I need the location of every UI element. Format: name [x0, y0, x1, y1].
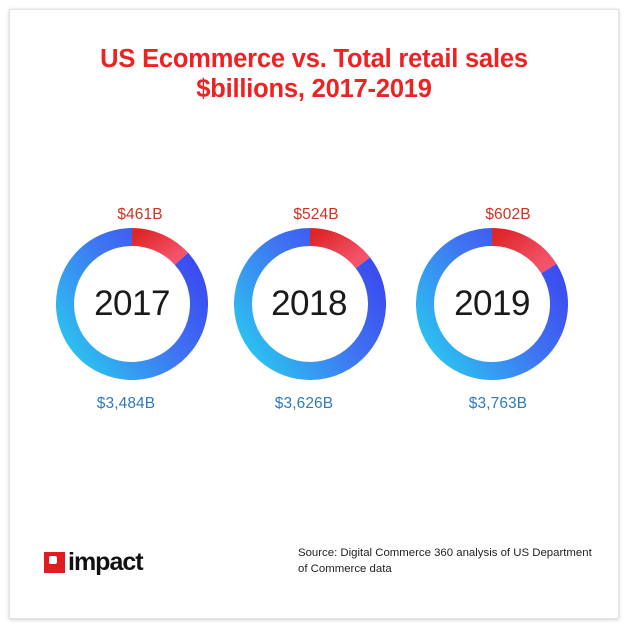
ecommerce-arc: [310, 237, 363, 263]
donut-ring-2017: [56, 228, 208, 380]
donut-svg-2017: [56, 228, 208, 380]
retail-value-label: $3,484B: [26, 395, 226, 413]
brand-logo: impact: [44, 552, 143, 573]
donut-chart-2017: $461B: [32, 190, 232, 440]
retail-value-label: $3,626B: [204, 395, 404, 413]
donut-chart-row: $461B: [10, 190, 620, 440]
retail-value-label: $3,763B: [398, 395, 598, 413]
donut-chart-2019: $602B: [392, 190, 592, 440]
page-title: US Ecommerce vs. Total retail sales $bil…: [10, 44, 618, 104]
donut-svg-2018: [234, 228, 386, 380]
footer: impact Source: Digital Commerce 360 anal…: [10, 546, 620, 592]
donut-svg-2019: [416, 228, 568, 380]
title-line-2: $billions, 2017-2019: [10, 74, 618, 104]
ecommerce-value-label: $602B: [408, 206, 608, 224]
source-line-1: Source: Digital Commerce 360 analysis of…: [298, 546, 598, 562]
donut-ring-2018: [234, 228, 386, 380]
infographic-card: US Ecommerce vs. Total retail sales $bil…: [9, 9, 619, 619]
title-line-1: US Ecommerce vs. Total retail sales: [100, 45, 528, 73]
brand-wordmark: impact: [68, 552, 143, 573]
donut-chart-2018: $524B: [210, 190, 410, 440]
ecommerce-arc: [132, 237, 181, 259]
source-note: Source: Digital Commerce 360 analysis of…: [298, 546, 598, 577]
donut-ring-2019: [416, 228, 568, 380]
impact-logo-icon: [44, 552, 65, 573]
source-line-2: of Commerce data: [298, 562, 598, 578]
ecommerce-arc: [492, 237, 549, 269]
ecommerce-value-label: $524B: [216, 206, 416, 224]
